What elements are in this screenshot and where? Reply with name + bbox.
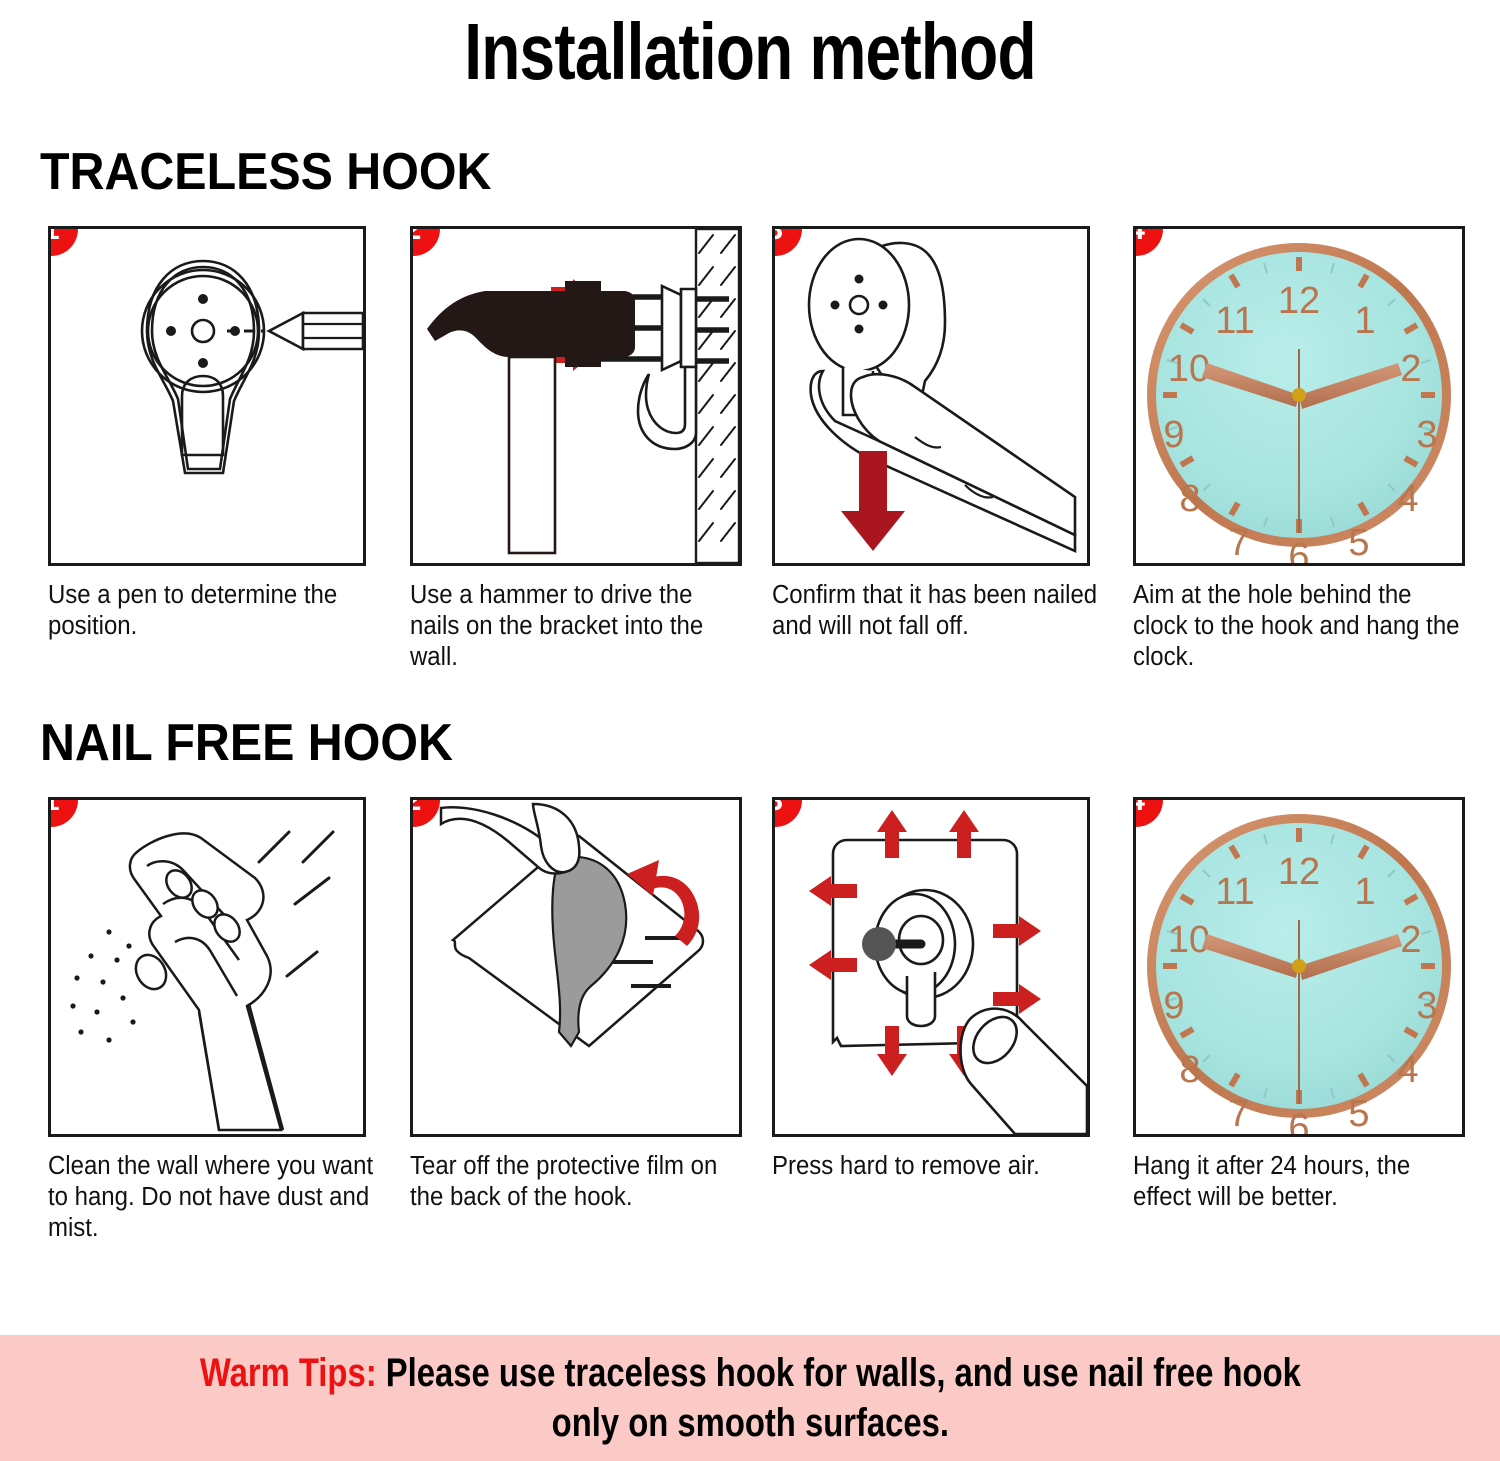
illustration-frame: 3 <box>772 226 1090 566</box>
illustration-frame: 1 <box>48 226 366 566</box>
warm-tips-line2: only on smooth surfaces. <box>199 1398 1300 1448</box>
step-caption: Use a pen to determine the position. <box>48 580 379 642</box>
illustration-frame: 3 <box>772 797 1090 1137</box>
step-panel-nailfree-4: 4 <box>1133 797 1490 1244</box>
svg-text:6: 6 <box>1289 1107 1310 1134</box>
section-heading-nailfree: NAIL FREE HOOK <box>40 715 1398 771</box>
step-caption: Tear off the protective film on the back… <box>410 1151 741 1213</box>
step-panel-nailfree-2: 2 <box>410 797 767 1244</box>
step-panel-traceless-4: 4 <box>1133 226 1490 673</box>
svg-text:10: 10 <box>1168 919 1210 961</box>
step-panel-traceless-2: 2 <box>410 226 767 673</box>
illustration-frame: 1 <box>48 797 366 1137</box>
step-caption: Clean the wall where you want to hang. D… <box>48 1151 379 1244</box>
hammer-handle <box>509 357 555 553</box>
hook-plate-with-pencil-icon <box>51 229 363 563</box>
shine-lines <box>259 832 333 976</box>
step-panel-nailfree-3: 3 <box>772 797 1129 1244</box>
illustration-frame: 2 <box>410 226 742 566</box>
svg-text:11: 11 <box>1216 300 1255 342</box>
wall-clock-icon: 12 1 2 3 4 5 6 7 8 9 10 11 <box>1136 229 1462 563</box>
svg-text:12: 12 <box>1278 851 1320 893</box>
step-row-traceless: 1 <box>0 226 1500 673</box>
step-panel-traceless-1: 1 <box>48 226 405 673</box>
page-title: Installation method <box>150 0 1350 100</box>
press-adhesive-pad-icon <box>775 800 1087 1134</box>
svg-text:4: 4 <box>1398 478 1419 520</box>
section-heading-traceless: TRACELESS HOOK <box>40 144 1398 200</box>
step-panel-traceless-3: 3 <box>772 226 1129 673</box>
step-caption: Press hard to remove air. <box>772 1151 1103 1182</box>
svg-text:5: 5 <box>1349 522 1370 563</box>
hammer-head <box>427 281 635 367</box>
svg-text:7: 7 <box>1229 522 1250 563</box>
warm-tips-text: Warm Tips: Please use traceless hook for… <box>199 1348 1300 1448</box>
warm-tips-line1: Please use traceless hook for walls, and… <box>376 1351 1300 1395</box>
wall-clock-icon: 12 1 2 3 4 5 6 7 8 9 10 11 <box>1136 800 1462 1134</box>
illustration-frame: 2 <box>410 797 742 1137</box>
step-caption: Confirm that it has been nailed and will… <box>772 580 1103 642</box>
illustration-frame: 4 <box>1133 226 1465 566</box>
wall-hatch <box>696 229 739 563</box>
svg-text:10: 10 <box>1168 348 1210 390</box>
step-panel-nailfree-1: 1 <box>48 797 405 1244</box>
hand-wiping-wall-icon <box>51 800 363 1134</box>
svg-text:1: 1 <box>1355 871 1376 913</box>
svg-text:4: 4 <box>1398 1049 1419 1091</box>
step-caption: Aim at the hole behind the clock to the … <box>1133 580 1464 673</box>
svg-text:3: 3 <box>1417 985 1438 1027</box>
svg-text:11: 11 <box>1216 871 1255 913</box>
step-row-nailfree: 1 <box>0 797 1500 1244</box>
svg-text:1: 1 <box>1355 300 1376 342</box>
step-caption: Use a hammer to drive the nails on the b… <box>410 580 741 673</box>
svg-text:7: 7 <box>1229 1093 1250 1134</box>
hammer-nails-into-wall-icon <box>413 229 739 563</box>
svg-text:3: 3 <box>1417 414 1438 456</box>
hook-bracket <box>638 286 696 449</box>
warm-tips-label: Warm Tips: <box>199 1351 376 1395</box>
svg-text:12: 12 <box>1278 280 1320 322</box>
svg-text:9: 9 <box>1164 985 1185 1027</box>
illustration-frame: 4 <box>1133 797 1465 1137</box>
svg-text:2: 2 <box>1401 348 1422 390</box>
svg-text:9: 9 <box>1164 414 1185 456</box>
section-nail-free-hook: NAIL FREE HOOK 1 <box>0 715 1500 1244</box>
svg-text:8: 8 <box>1180 478 1201 520</box>
step-caption: Hang it after 24 hours, the effect will … <box>1133 1151 1464 1213</box>
svg-text:5: 5 <box>1349 1093 1370 1134</box>
finger-pressing-hook-down-icon <box>775 229 1087 563</box>
section-traceless-hook: TRACELESS HOOK 1 <box>0 144 1500 673</box>
svg-text:6: 6 <box>1289 536 1310 563</box>
peeling-protective-film-icon <box>413 800 739 1134</box>
warm-tips-banner: Warm Tips: Please use traceless hook for… <box>0 1335 1500 1461</box>
svg-text:8: 8 <box>1180 1049 1201 1091</box>
dust-dots <box>70 929 135 1042</box>
svg-text:2: 2 <box>1401 919 1422 961</box>
